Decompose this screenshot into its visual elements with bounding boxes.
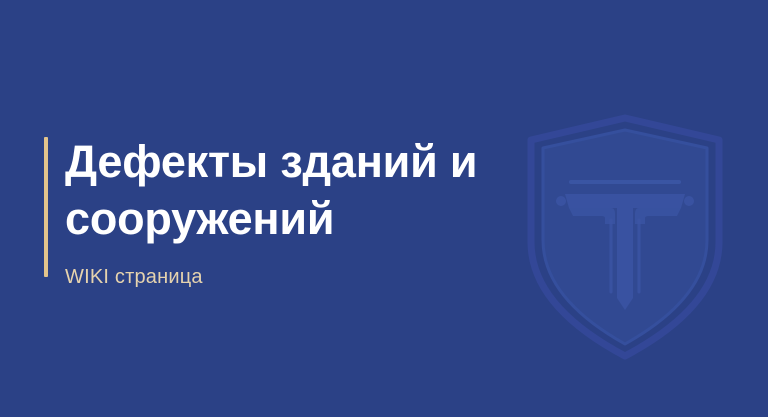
wiki-page-banner: Дефекты зданий и сооружений WIKI страниц…: [0, 0, 768, 417]
banner-content: Дефекты зданий и сооружений WIKI страниц…: [44, 133, 544, 289]
banner-text-column: Дефекты зданий и сооружений WIKI страниц…: [48, 133, 477, 289]
page-title: Дефекты зданий и сооружений: [65, 133, 477, 247]
t-monogram-group: [556, 182, 694, 310]
shield-outer-outline: [531, 118, 719, 356]
shield-inner-body: [543, 130, 707, 344]
page-subtitle: WIKI страница: [65, 265, 477, 289]
shield-with-t-monogram-icon: [515, 120, 735, 360]
